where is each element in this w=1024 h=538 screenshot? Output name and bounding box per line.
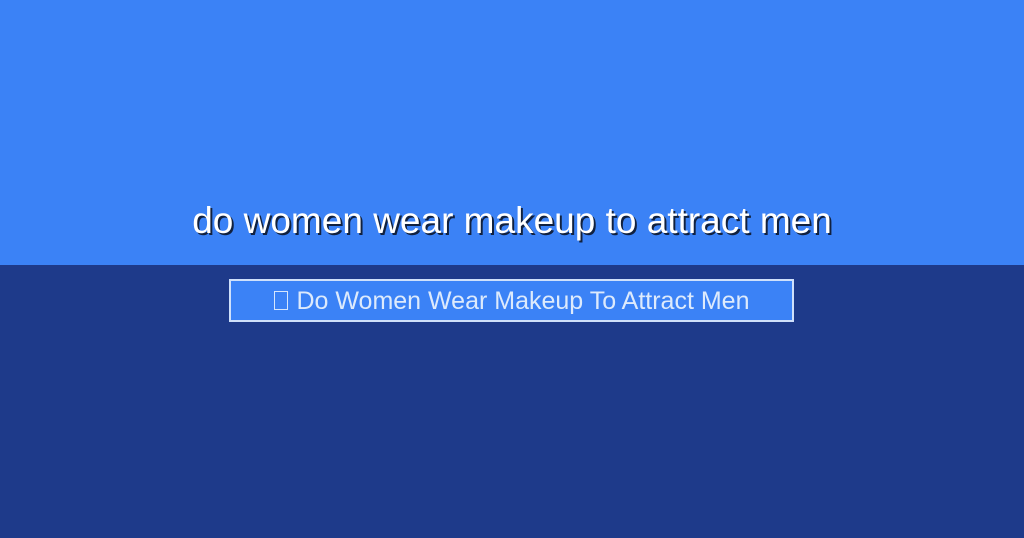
- missing-glyph-box-icon: [274, 291, 288, 310]
- headline-link-button[interactable]: Do Women Wear Makeup To Attract Men: [229, 279, 794, 322]
- hero-band: do women wear makeup to attract men: [0, 0, 1024, 265]
- headline-link-label: Do Women Wear Makeup To Attract Men: [297, 287, 750, 315]
- page-root: do women wear makeup to attract men Do W…: [0, 0, 1024, 538]
- page-title: do women wear makeup to attract men: [0, 199, 1024, 243]
